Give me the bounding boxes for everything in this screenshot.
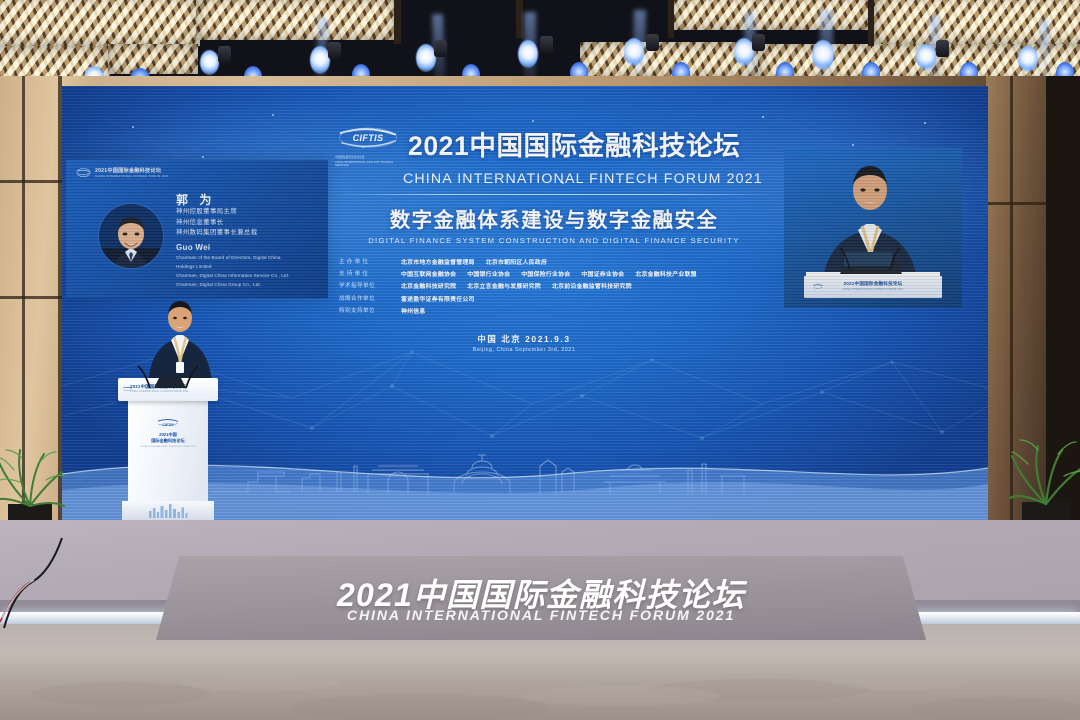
card-header: 2021中国国际金融科技论坛 CHINA INTERNATIONAL FINTE…: [76, 167, 169, 178]
organizer-label: 支持单位: [339, 269, 401, 277]
divider: [335, 194, 773, 195]
spot-light: [624, 38, 644, 66]
stage-front-banner: 2021中国国际金融科技论坛 CHINA INTERNATIONAL FINTE…: [156, 556, 926, 640]
spot-light: [734, 38, 754, 66]
organizer-label: 战略合作单位: [339, 294, 401, 302]
speaker-title-cn-1: 神州控股董事局主席: [176, 207, 324, 217]
organizer-label: 主办单位: [339, 257, 401, 265]
organizer-value: 北京立言金融与发展研究院: [467, 281, 541, 290]
forum-theme-cn: 数字金融体系建设与数字金融安全: [335, 203, 773, 233]
podium-sign-en: CHINA INTERNATIONAL FINTECH FORUM 2021: [130, 391, 189, 393]
organizer-value: 中国证券业协会: [581, 269, 624, 278]
organizer-label: 学术指导单位: [339, 281, 401, 289]
ciftis-logo-icon: CIFTIS: [335, 124, 401, 150]
podium-microphones: [120, 358, 216, 388]
spot-light: [310, 46, 330, 74]
svg-text:CIFTIS: CIFTIS: [353, 133, 384, 143]
organizer-value: 神州信息: [401, 306, 426, 315]
spot-light: [812, 40, 834, 70]
organizer-label: 特别支持单位: [339, 306, 401, 314]
card-header-title-en: CHINA INTERNATIONAL FINTECH FORUM 2021: [95, 174, 169, 178]
speaker-info-card: 2021中国国际金融科技论坛 CHINA INTERNATIONAL FINTE…: [66, 160, 328, 298]
forum-theme-en: DIGITAL FINANCE SYSTEM CONSTRUCTION AND …: [335, 236, 773, 245]
speaker-title-en-3: Chairman, Digital China Information Serv…: [176, 272, 324, 279]
organizer-value: 中国银行业协会: [467, 269, 510, 278]
ceiling-panel: [672, 0, 872, 30]
ceiling-panel: [580, 42, 760, 78]
podium-front-title-line1: 2021中国: [159, 432, 177, 437]
ceiling-panel: [874, 0, 1080, 44]
conference-stage-photo: 2021中国国际金融科技论坛 CHINA INTERNATIONAL FINTE…: [0, 0, 1080, 720]
organizer-row: 特别支持单位 神州信息: [339, 306, 773, 315]
ciftis-logo-icon: [76, 167, 91, 178]
forum-title-block: CIFTIS 中国国际服务贸易交易会 CHINA INTERNATIONAL F…: [335, 124, 773, 353]
organizer-value: 富途盈华证券有限责任公司: [401, 294, 475, 303]
potted-plant-right: [1006, 402, 1080, 534]
live-podium-sign-en: CHINA INTERNATIONAL FINTECH FORUM 2021: [804, 288, 942, 291]
organizer-value: 北京市朝阳区人民政府: [486, 257, 547, 266]
event-datetime: 中国 北京 2021.9.3 Beijing, China September …: [275, 333, 773, 354]
ciftis-sub-en: CHINA INTERNATIONAL FAIR FOR TRADE IN SE…: [335, 161, 401, 168]
spot-light: [916, 44, 936, 70]
stage-podium: 2021中国国际金融科技论坛 CHINA INTERNATIONAL FINTE…: [118, 378, 218, 523]
forum-title-cn: 2021中国国际金融科技论坛: [408, 133, 740, 160]
live-speaker-figure: [784, 148, 962, 308]
spot-light: [1018, 46, 1038, 72]
speaker-title-cn-3: 神州数码集团董事长兼总裁: [176, 228, 324, 238]
organizer-value: 北京市地方金融监督管理局: [401, 257, 475, 266]
spot-light: [200, 50, 219, 75]
organizer-value: 中国保险行业协会: [521, 269, 570, 278]
organizer-value: 北京前沿金融监管科技研究院: [552, 281, 632, 290]
banner-title-en: CHINA INTERNATIONAL FINTECH FORUM 2021: [156, 608, 926, 624]
live-podium-sign: 2021中国国际金融科技论坛 CHINA INTERNATIONAL FINTE…: [804, 276, 942, 298]
speaker-title-en-2: Holdings Limited: [176, 263, 324, 270]
speaker-title-en-4: Chairman, Digital China Group Co., Ltd.: [176, 281, 324, 288]
organizer-row: 学术指导单位 北京金融科技研究院 北京立言金融与发展研究院 北京前沿金融监管科技…: [339, 281, 773, 290]
podium-front-title-cn: 2021中国 国际金融科技论坛: [118, 432, 218, 443]
stage-cable: [0, 500, 120, 630]
spot-light: [416, 44, 436, 72]
organizer-row: 主办单位 北京市地方金融监督管理局 北京市朝阳区人民政府: [339, 257, 773, 266]
speaker-details: 郭 为 神州控股董事局主席 神州信息董事长 神州数码集团董事长兼总裁 Guo W…: [176, 193, 324, 288]
podium-front-title-en: CHINA INTERNATIONAL FINTECH FORUM 2021: [118, 446, 218, 448]
ceiling-panel: [196, 0, 396, 40]
speaker-portrait-avatar: [99, 204, 163, 268]
ciftis-sub-cn: 中国国际服务贸易交易会: [335, 156, 401, 160]
ciftis-brand: CIFTIS 中国国际服务贸易交易会 CHINA INTERNATIONAL F…: [335, 124, 401, 168]
ceiling-panel: [108, 44, 198, 74]
podium-ciftis-logo-icon: CIFTIS: [156, 416, 180, 430]
organizer-row: 支持单位 中国互联网金融协会 中国银行业协会 中国保险行业协会 中国证券业协会 …: [339, 269, 773, 278]
live-podium-sign-cn: 2021中国国际金融科技论坛: [804, 281, 942, 287]
live-camera-panel: 2021中国国际金融科技论坛 CHINA INTERNATIONAL FINTE…: [784, 148, 962, 308]
speaker-name-en: Guo Wei: [176, 243, 324, 252]
spot-light: [518, 40, 538, 68]
speaker-name-cn: 郭 为: [176, 193, 324, 207]
ceiling-panel: [0, 0, 200, 46]
event-date-en: Beijing, China September 3rd, 2021: [275, 347, 773, 353]
card-header-title-cn: 2021中国国际金融科技论坛: [95, 167, 169, 174]
ciftis-logo-icon: [812, 282, 824, 291]
organizer-row: 战略合作单位 富途盈华证券有限责任公司: [339, 294, 773, 303]
podium-skyline-icon: [146, 502, 190, 518]
organizer-value: 北京金融科技研究院: [401, 281, 456, 290]
svg-text:CIFTIS: CIFTIS: [162, 423, 174, 427]
organizer-value: 北京金融科技产业联盟: [635, 269, 696, 278]
speaker-title-en-1: Chairman of the Board of Directors, Digi…: [176, 254, 324, 261]
podium-front-title-line2: 国际金融科技论坛: [151, 438, 185, 443]
organizer-value: 中国互联网金融协会: [401, 269, 456, 278]
event-date-cn: 中国 北京 2021.9.3: [275, 333, 773, 345]
organizer-list: 主办单位 北京市地方金融监督管理局 北京市朝阳区人民政府 支持单位 中国互联网金…: [335, 257, 773, 315]
speaker-title-cn-2: 神州信息董事长: [176, 218, 324, 228]
forum-title-en: CHINA INTERNATIONAL FINTECH FORUM 2021: [335, 172, 773, 188]
